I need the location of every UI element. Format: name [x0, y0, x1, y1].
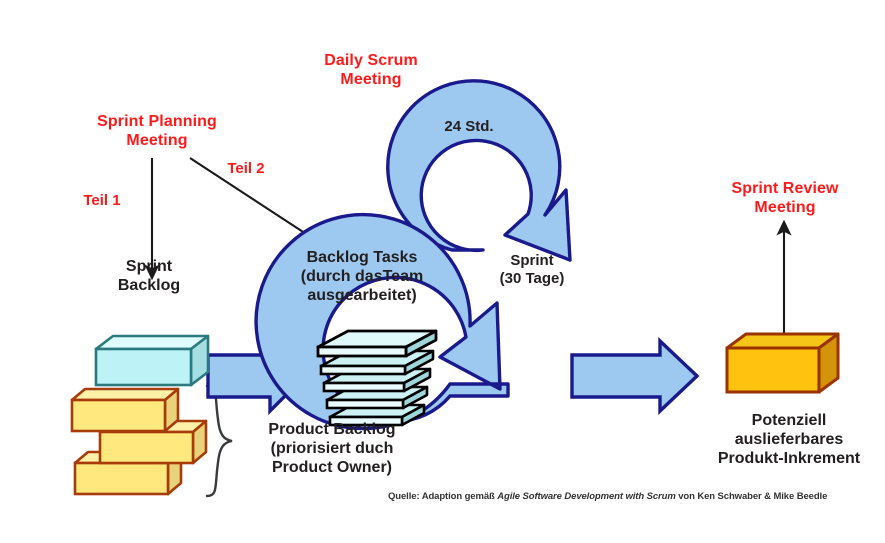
source-prefix: Quelle: Adaption gemäß — [388, 491, 497, 502]
product-increment-box — [727, 334, 838, 392]
label-backlog-tasks: Backlog Tasks (durch dasTeam ausgearbeit… — [262, 249, 462, 306]
label-product-backlog: Product Backlog (priorisiert duch Produc… — [237, 421, 427, 478]
label-sprint-planning-meeting: Sprint Planning Meeting — [62, 113, 252, 151]
source-book-title: Agile Software Development with Scrum — [497, 491, 675, 502]
label-sprint-backlog: Sprint Backlog — [84, 258, 214, 296]
label-cycle-sprint: Sprint (30 Tage) — [467, 252, 597, 287]
label-product-increment: Potenziell auslieferbares Produkt-Inkrem… — [694, 412, 884, 469]
label-teil-1: Teil 1 — [72, 192, 132, 210]
arrow-to-increment — [572, 341, 697, 411]
label-daily-scrum-meeting: Daily Scrum Meeting — [276, 52, 466, 90]
label-sprint-review-meeting: Sprint Review Meeting — [690, 180, 880, 218]
scrum-diagram: Daily Scrum Meeting Sprint Planning Meet… — [0, 0, 885, 543]
product-backlog-brace — [207, 386, 232, 496]
source-suffix: von Ken Schwaber & Mike Beedle — [676, 491, 828, 502]
source-attribution: Quelle: Adaption gemäß Agile Software De… — [388, 491, 827, 502]
sprint-backlog-box — [96, 336, 208, 385]
label-cycle-24-std: 24 Std. — [409, 118, 529, 136]
product-backlog-box-1 — [72, 389, 178, 431]
label-teil-2: Teil 2 — [216, 160, 276, 178]
